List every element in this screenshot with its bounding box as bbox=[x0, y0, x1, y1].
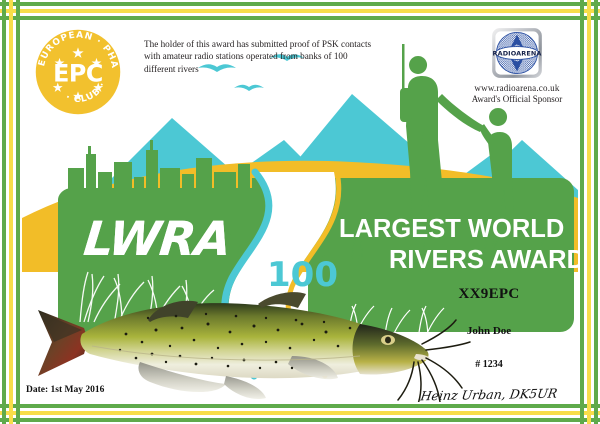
lwra-wordmark: LWRA bbox=[81, 212, 233, 267]
recipient-details: XX9EPC John Doe # 1234 Heinz Urban, DK5U… bbox=[398, 286, 580, 402]
sponsor-role: Award's Official Sponsor bbox=[446, 94, 588, 104]
border-stripe-right-green-1 bbox=[594, 0, 598, 424]
certificate-serial: # 1234 bbox=[398, 359, 580, 370]
border-weave-tl-vy bbox=[9, 0, 13, 8]
recipient-callsign: XX9EPC bbox=[398, 286, 580, 303]
milestone-number: 100 bbox=[267, 255, 338, 295]
award-title-line2: RIVERS AWARD bbox=[339, 245, 578, 276]
border-stripe-left-green-2 bbox=[16, 0, 20, 424]
award-certificate: LWRA 100 LARGEST WORLD RIVERS AWARD EURO… bbox=[0, 0, 600, 424]
radioarena-logo: RADIOARENA bbox=[490, 26, 544, 80]
border-weave-tl-vy2 bbox=[9, 14, 13, 22]
border-weave-bl-v1 bbox=[2, 402, 6, 424]
epc-seal: EUROPEAN · PHASE · SHIFT · KEYING · CLUB… bbox=[34, 28, 122, 116]
border-weave-br-v1 bbox=[594, 402, 598, 424]
award-title: LARGEST WORLD RIVERS AWARD bbox=[339, 214, 578, 276]
border-weave-tr-vy2 bbox=[587, 14, 591, 22]
svg-text:EPC: EPC bbox=[53, 60, 103, 88]
border-stripe-left-green-1 bbox=[2, 0, 6, 424]
border-stripe-bottom-green-1 bbox=[0, 418, 600, 422]
recipient-name: John Doe bbox=[398, 325, 580, 337]
border-weave-bl-v2 bbox=[16, 402, 20, 424]
border-weave-tr-v1 bbox=[594, 0, 598, 22]
issue-date: Date: 1st May 2016 bbox=[26, 385, 104, 395]
svg-text:RADIOARENA: RADIOARENA bbox=[493, 49, 542, 57]
border-weave-br-vy bbox=[587, 416, 591, 424]
border-stripe-bottom-green-2 bbox=[0, 404, 600, 408]
border-stripe-top-yellow-1 bbox=[0, 9, 600, 13]
border-weave-br-vy2 bbox=[587, 402, 591, 410]
sponsor-block: RADIOARENA www.radioarena.co.uk Award's … bbox=[446, 26, 588, 104]
border-stripe-bottom-yellow-1 bbox=[0, 411, 600, 415]
border-stripe-left-yellow-1 bbox=[9, 0, 13, 424]
sponsor-url[interactable]: www.radioarena.co.uk bbox=[446, 83, 588, 93]
border-weave-tr-vy bbox=[587, 0, 591, 8]
border-weave-bl-vy bbox=[9, 416, 13, 424]
award-title-line1: LARGEST WORLD bbox=[339, 215, 564, 243]
border-weave-tl-v2 bbox=[16, 0, 20, 22]
award-description: The holder of this award has submitted p… bbox=[144, 38, 374, 75]
border-weave-bl-vy2 bbox=[9, 402, 13, 410]
border-weave-tr-v2 bbox=[580, 0, 584, 22]
issuer-signature: Heinz Urban, DK5UR bbox=[397, 385, 582, 404]
border-stripe-top-green-2 bbox=[0, 16, 600, 20]
border-stripe-top-green-1 bbox=[0, 2, 600, 6]
border-weave-tl-v1 bbox=[2, 0, 6, 22]
border-weave-br-v2 bbox=[580, 402, 584, 424]
